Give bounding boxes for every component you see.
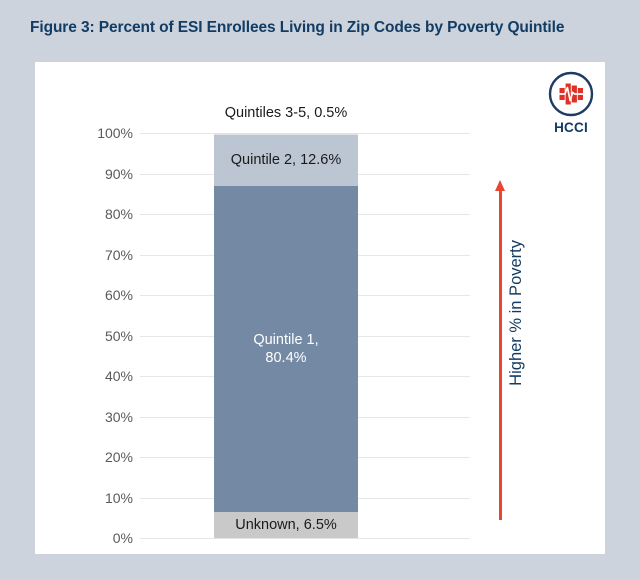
ytick-label-90: 90% [73,166,133,182]
bar-segment-quintile-2[interactable]: Quintile 2, 12.6% [214,135,358,186]
ytick-label-20: 20% [73,449,133,465]
figure-page: Figure 3: Percent of ESI Enrollees Livin… [0,0,640,580]
higher-poverty-label: Higher % in Poverty [507,240,526,386]
bar-segment-quintile-1[interactable]: Quintile 1, 80.4% [214,186,358,512]
bar-segment-label-quintile-2: Quintile 2, 12.6% [231,151,341,169]
page-title: Figure 3: Percent of ESI Enrollees Livin… [30,19,564,37]
bar-segment-label-unknown: Unknown, 6.5% [235,516,337,534]
ytick-label-40: 40% [73,368,133,384]
ytick-label-0: 0% [73,530,133,546]
bar-segment-unknown[interactable]: Unknown, 6.5% [214,512,358,538]
chart-card: HCCI 100% 90% 80% 70% 60% 50% 40% 30% 20… [35,62,605,554]
gridline-0 [140,538,470,539]
ytick-label-10: 10% [73,490,133,506]
bar-segment-label-quintiles-3-5: Quintiles 3-5, 0.5% [154,105,418,121]
bar-segment-label-quintile-1: Quintile 1, 80.4% [253,331,318,367]
ytick-label-80: 80% [73,206,133,222]
ytick-label-60: 60% [73,287,133,303]
ytick-label-30: 30% [73,409,133,425]
arrow-shaft [499,189,502,520]
ytick-label-70: 70% [73,247,133,263]
ytick-label-50: 50% [73,328,133,344]
ytick-label-100: 100% [73,125,133,141]
chart-plot-area: 100% 90% 80% 70% 60% 50% 40% 30% 20% 10%… [35,62,605,554]
higher-poverty-arrow-icon [492,180,508,520]
